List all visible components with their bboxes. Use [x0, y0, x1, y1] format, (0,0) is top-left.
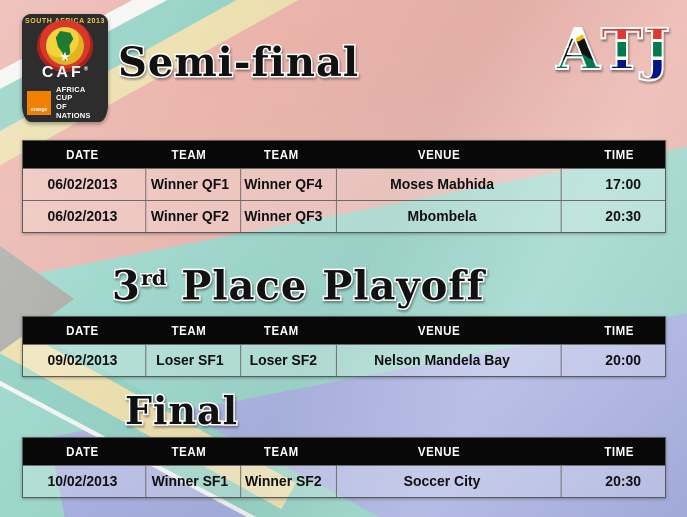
table-row: 06/02/2013 Winner QF1 Winner QF4 Moses M…: [23, 168, 665, 200]
third-place-playoff-fixtures-table: DATE TEAM TEAM VENUE TIME 09/02/2013 Los…: [22, 316, 666, 377]
column-header-team1: TEAM: [146, 141, 232, 168]
column-header-team2: TEAM: [239, 317, 322, 344]
caf-logo-subtitle: AFRICA CUP OF NATIONS: [56, 86, 103, 120]
cell-time: 20:30: [560, 466, 684, 497]
caf-logo-sponsor-bar: orange AFRICA CUP OF NATIONS: [22, 84, 108, 122]
final-fixtures-table: DATE TEAM TEAM VENUE TIME 10/02/2013 Win…: [22, 437, 666, 498]
cell-team1: Loser SF1: [145, 345, 233, 376]
cell-time: 17:00: [560, 169, 684, 200]
column-header-venue: VENUE: [335, 317, 543, 344]
caf-africa-cup-of-nations-logo: SOUTH AFRICA 2013 ★ CAF® orange AFRICA C…: [22, 14, 108, 122]
cell-venue: Mbombela: [336, 201, 547, 232]
caf-acronym-text: CAF: [42, 64, 84, 81]
cell-date: 06/02/2013: [27, 201, 138, 232]
cell-team2: Winner QF4: [240, 169, 325, 200]
cell-time: 20:30: [560, 201, 684, 232]
star-icon: ★: [59, 50, 71, 63]
orange-sponsor-label: orange: [31, 107, 48, 115]
cell-team2: Winner QF3: [240, 201, 325, 232]
table-header-row: DATE TEAM TEAM VENUE TIME: [23, 438, 665, 465]
cell-date: 06/02/2013: [27, 169, 138, 200]
caf-logo-shield: SOUTH AFRICA 2013 ★ CAF®: [22, 14, 108, 86]
column-header-date: DATE: [28, 141, 137, 168]
caf-logo-acronym: CAF®: [22, 64, 108, 82]
column-header-team2: TEAM: [239, 438, 322, 465]
third-place-playoff-heading: 3rd Place Playoff: [112, 256, 485, 308]
column-header-date: DATE: [28, 438, 137, 465]
column-header-date: DATE: [28, 317, 137, 344]
table-row: 10/02/2013 Winner SF1 Winner SF2 Soccer …: [23, 465, 665, 497]
table-row: 09/02/2013 Loser SF1 Loser SF2 Nelson Ma…: [23, 344, 665, 376]
cell-team1: Winner QF1: [145, 169, 233, 200]
cell-team1: Winner QF2: [145, 201, 233, 232]
column-header-time: TIME: [558, 317, 680, 344]
atj-brand-logo: A T J: [556, 22, 670, 78]
final-heading: Final: [125, 390, 238, 432]
table-header-row: DATE TEAM TEAM VENUE TIME: [23, 317, 665, 344]
atj-letter-t: T: [601, 22, 643, 78]
third-place-heading-ordinal-suffix: rd: [141, 265, 167, 290]
cell-team2: Loser SF2: [240, 345, 325, 376]
tournament-schedule-poster: SOUTH AFRICA 2013 ★ CAF® orange AFRICA C…: [0, 0, 687, 517]
cell-date: 10/02/2013: [27, 466, 138, 497]
poster-content: SOUTH AFRICA 2013 ★ CAF® orange AFRICA C…: [0, 0, 687, 517]
registered-trademark-icon: ®: [84, 67, 88, 73]
column-header-venue: VENUE: [335, 141, 543, 168]
atj-letter-a: A: [556, 22, 599, 78]
table-header-row: DATE TEAM TEAM VENUE TIME: [23, 141, 665, 168]
column-header-time: TIME: [558, 438, 680, 465]
semi-final-fixtures-table: DATE TEAM TEAM VENUE TIME 06/02/2013 Win…: [22, 140, 666, 233]
third-place-heading-rest: Place Playoff: [166, 262, 484, 309]
column-header-team2: TEAM: [239, 141, 322, 168]
cell-date: 09/02/2013: [27, 345, 138, 376]
cell-team2: Winner SF2: [240, 466, 325, 497]
semi-final-heading: Semi-final: [118, 41, 359, 85]
orange-sponsor-logo: orange: [27, 91, 51, 115]
caf-subtitle-line-3: OF NATIONS: [56, 103, 103, 120]
third-place-heading-number: 3: [112, 262, 141, 309]
cell-time: 20:00: [560, 345, 684, 376]
cell-venue: Nelson Mandela Bay: [336, 345, 547, 376]
cell-venue: Moses Mabhida: [336, 169, 547, 200]
column-header-venue: VENUE: [335, 438, 543, 465]
column-header-time: TIME: [558, 141, 680, 168]
column-header-team1: TEAM: [146, 317, 232, 344]
atj-letter-j: J: [644, 22, 671, 78]
column-header-team1: TEAM: [146, 438, 232, 465]
table-row: 06/02/2013 Winner QF2 Winner QF3 Mbombel…: [23, 200, 665, 232]
cell-venue: Soccer City: [336, 466, 547, 497]
cell-team1: Winner SF1: [145, 466, 233, 497]
